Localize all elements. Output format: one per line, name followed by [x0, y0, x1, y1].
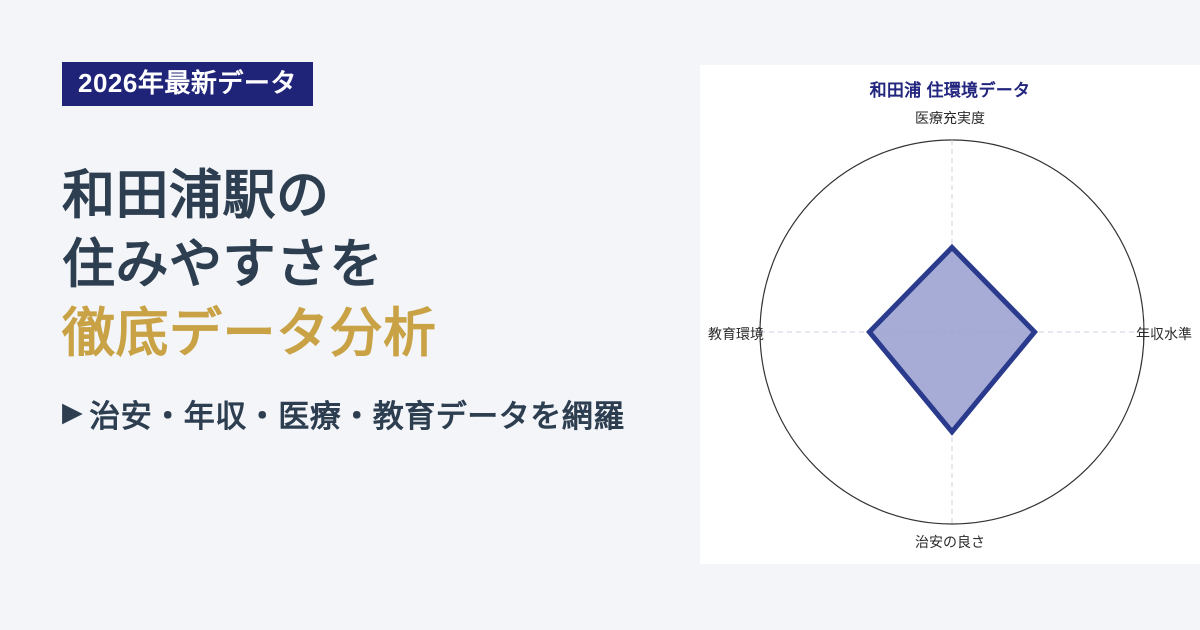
page-title: 和田浦駅の 住みやすさを 徹底データ分析	[62, 162, 700, 369]
radar-axis-label-bottom: 治安の良さ	[700, 532, 1200, 552]
status-badge: 2026年最新データ	[62, 62, 313, 106]
page-title-line-3: 徹底データ分析	[62, 300, 700, 369]
radar-axis-label-top: 医療充実度	[700, 108, 1200, 128]
radar-chart-panel: 和田浦 住環境データ 医療充実度 年収水準 治安の良さ 教育環境	[700, 65, 1200, 564]
play-triangle-icon: ▶	[62, 399, 83, 426]
radar-chart-svg	[700, 65, 1200, 564]
page-title-line-1: 和田浦駅の	[62, 162, 700, 231]
radar-axis-label-left: 教育環境	[708, 324, 764, 344]
page-title-line-2: 住みやすさを	[62, 231, 700, 300]
hero-text-column: 2026年最新データ 和田浦駅の 住みやすさを 徹底データ分析 ▶ 治安・年収・…	[0, 0, 700, 630]
radar-data-polygon	[869, 248, 1034, 432]
page-subtitle: ▶ 治安・年収・医療・教育データを網羅	[62, 391, 700, 436]
page-subtitle-text: 治安・年収・医療・教育データを網羅	[89, 391, 625, 436]
radar-axis-label-right: 年収水準	[1136, 324, 1192, 344]
